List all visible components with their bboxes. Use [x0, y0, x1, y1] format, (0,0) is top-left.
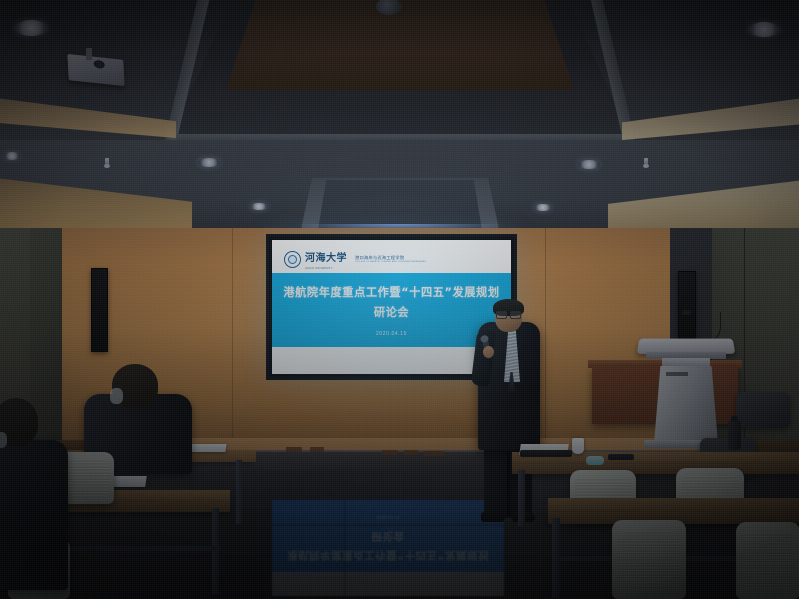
thermos-bottle[interactable]: [728, 420, 741, 450]
podium-body: [654, 366, 718, 444]
projector: [67, 54, 124, 86]
stage-marker: [310, 447, 324, 452]
university-name-cn: 河海大学: [305, 253, 347, 264]
presenter-hand: [483, 346, 494, 358]
downlight-icon: [534, 204, 552, 211]
ceiling-recess-inner: [226, 0, 574, 90]
stage-marker: [424, 451, 444, 456]
presenter-leg-gap: [507, 452, 510, 516]
attendee-torso: [0, 440, 68, 590]
slide-title-band: 港航院年度重点工作暨“十四五”发展规划 研论会 2020.04.15: [272, 273, 511, 347]
podium-label: [666, 372, 688, 376]
reflection-date: 2020.04.15: [272, 515, 504, 520]
table-right-back: [512, 464, 799, 474]
face-mask[interactable]: [586, 456, 604, 465]
ceiling: [0, 0, 799, 232]
table-leg: [212, 508, 219, 594]
reflection-title-line2: 研论会: [272, 526, 504, 545]
screen-reflection: 港航院年度重点工作暨“十四五”发展规划 研论会 2020.04.15: [272, 500, 504, 596]
downlight-icon: [4, 152, 20, 160]
eyeglasses-icon: [496, 311, 521, 317]
wall-speaker-left: [91, 268, 108, 352]
stage-marker: [286, 447, 302, 452]
department-name-en: COLLEGE OF HARBOR, COASTAL AND OFFSHORE …: [355, 261, 426, 263]
stage-marker: [382, 450, 398, 455]
reflection-band: 港航院年度重点工作暨“十四五”发展规划 研论会 2020.04.15: [272, 500, 504, 574]
slide-date: 2020.04.15: [272, 331, 511, 337]
stage-marker: [404, 450, 418, 455]
downlight-icon: [578, 160, 600, 169]
reflection-title-line1: 港航院年度重点工作暨“十四五”发展规划: [272, 545, 504, 564]
chair[interactable]: [736, 522, 799, 599]
downlight-icon: [748, 22, 780, 37]
projector-lens-icon: [93, 60, 104, 69]
reflection-seam: [344, 500, 346, 596]
downlight-icon: [198, 158, 220, 167]
conference-room-photo: 河海大学 HOHAI UNIVERSITY 港口海岸与近海工程学院 COLLEG…: [0, 0, 799, 599]
slide-title-line1: 港航院年度重点工作暨“十四五”发展规划: [272, 283, 511, 303]
wall-seam: [545, 228, 546, 450]
university-logo: 河海大学 HOHAI UNIVERSITY 港口海岸与近海工程学院 COLLEG…: [284, 248, 426, 270]
soffit-right-upper: [622, 98, 799, 140]
folder[interactable]: [608, 454, 634, 460]
slide-title-line2: 研论会: [272, 303, 511, 323]
documents[interactable]: [187, 444, 226, 452]
slide-title: 港航院年度重点工作暨“十四五”发展规划 研论会: [272, 283, 511, 323]
university-name-en: HOHAI UNIVERSITY: [305, 267, 347, 270]
chair[interactable]: [612, 520, 686, 599]
table-leg: [518, 470, 525, 526]
university-seal-icon: [284, 251, 301, 268]
reflection-white-band: [272, 572, 504, 596]
table-leg: [236, 460, 242, 524]
slide-header: 河海大学 HOHAI UNIVERSITY 港口海岸与近海工程学院 COLLEG…: [272, 240, 511, 273]
folder[interactable]: [520, 450, 572, 457]
soffit-left-upper: [0, 98, 176, 138]
sprinkler-icon: [644, 158, 648, 167]
reflection-seam: [272, 524, 504, 526]
floor-seam: [258, 470, 259, 599]
chair-dark[interactable]: [736, 392, 790, 428]
ceiling-light-cove-inner: [318, 180, 482, 230]
floor-seam: [540, 470, 541, 599]
microphone-head-icon: [682, 310, 691, 315]
department-name-cn: 港口海岸与近海工程学院: [355, 255, 404, 260]
sprinkler-icon: [105, 158, 109, 167]
reflection-title: 港航院年度重点工作暨“十四五”发展规划 研论会: [272, 526, 504, 564]
face-mask: [110, 388, 123, 404]
wall-seam: [232, 228, 233, 450]
downlight-icon: [14, 20, 48, 36]
projector-mount: [86, 48, 92, 60]
department-name: 港口海岸与近海工程学院 COLLEGE OF HARBOR, COASTAL A…: [355, 255, 426, 263]
downlight-icon: [250, 203, 268, 210]
paper-cup[interactable]: [572, 438, 584, 454]
presenter-shoe: [481, 512, 505, 522]
